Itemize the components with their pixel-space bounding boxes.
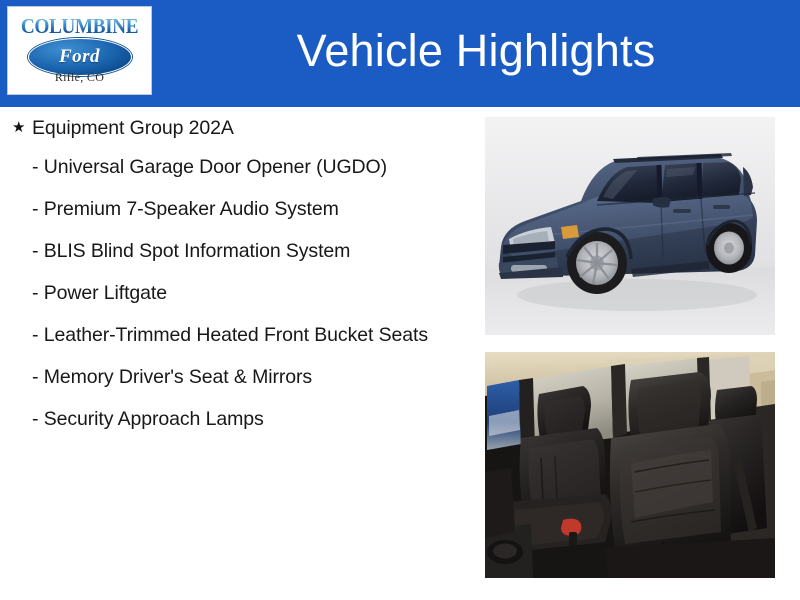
feature-text: - Leather-Trimmed Heated Front Bucket Se… bbox=[32, 323, 464, 348]
star-icon: ★ bbox=[12, 116, 32, 140]
dealer-logo-inner: COLUMBINE Ford Rifle, CO bbox=[8, 7, 151, 94]
list-item: - Security Approach Lamps bbox=[0, 407, 470, 432]
list-item: - Leather-Trimmed Heated Front Bucket Se… bbox=[0, 323, 470, 348]
vehicle-features-list: ★ Equipment Group 202A - Universal Garag… bbox=[0, 107, 470, 600]
list-item: - Memory Driver's Seat & Mirrors bbox=[0, 365, 470, 390]
list-item: - Premium 7-Speaker Audio System bbox=[0, 197, 470, 222]
vehicle-interior-photo bbox=[485, 352, 775, 578]
vehicle-exterior-illustration bbox=[485, 117, 775, 335]
dealer-logo: COLUMBINE Ford Rifle, CO bbox=[7, 6, 152, 95]
dealer-location-text: Rifle, CO bbox=[8, 70, 151, 85]
header-bar: COLUMBINE Ford Rifle, CO Vehicle Highlig… bbox=[0, 0, 800, 107]
list-item: - BLIS Blind Spot Information System bbox=[0, 239, 470, 264]
list-item: - Power Liftgate bbox=[0, 281, 470, 306]
list-item: ★ Equipment Group 202A bbox=[0, 116, 470, 141]
page-title: Vehicle Highlights bbox=[152, 0, 800, 107]
vehicle-interior-illustration bbox=[485, 352, 775, 578]
feature-text: - Premium 7-Speaker Audio System bbox=[32, 197, 464, 222]
feature-text: Equipment Group 202A bbox=[32, 116, 464, 141]
feature-text: - Universal Garage Door Opener (UGDO) bbox=[32, 155, 464, 180]
list-item: - Universal Garage Door Opener (UGDO) bbox=[0, 155, 470, 180]
feature-text: - Memory Driver's Seat & Mirrors bbox=[32, 365, 464, 390]
feature-text: - Security Approach Lamps bbox=[32, 407, 464, 432]
slide-canvas: COLUMBINE Ford Rifle, CO Vehicle Highlig… bbox=[0, 0, 800, 600]
vehicle-exterior-photo bbox=[485, 117, 775, 335]
dealer-name-text: COLUMBINE bbox=[14, 16, 146, 37]
feature-text: - Power Liftgate bbox=[32, 281, 464, 306]
feature-text: - BLIS Blind Spot Information System bbox=[32, 239, 464, 264]
